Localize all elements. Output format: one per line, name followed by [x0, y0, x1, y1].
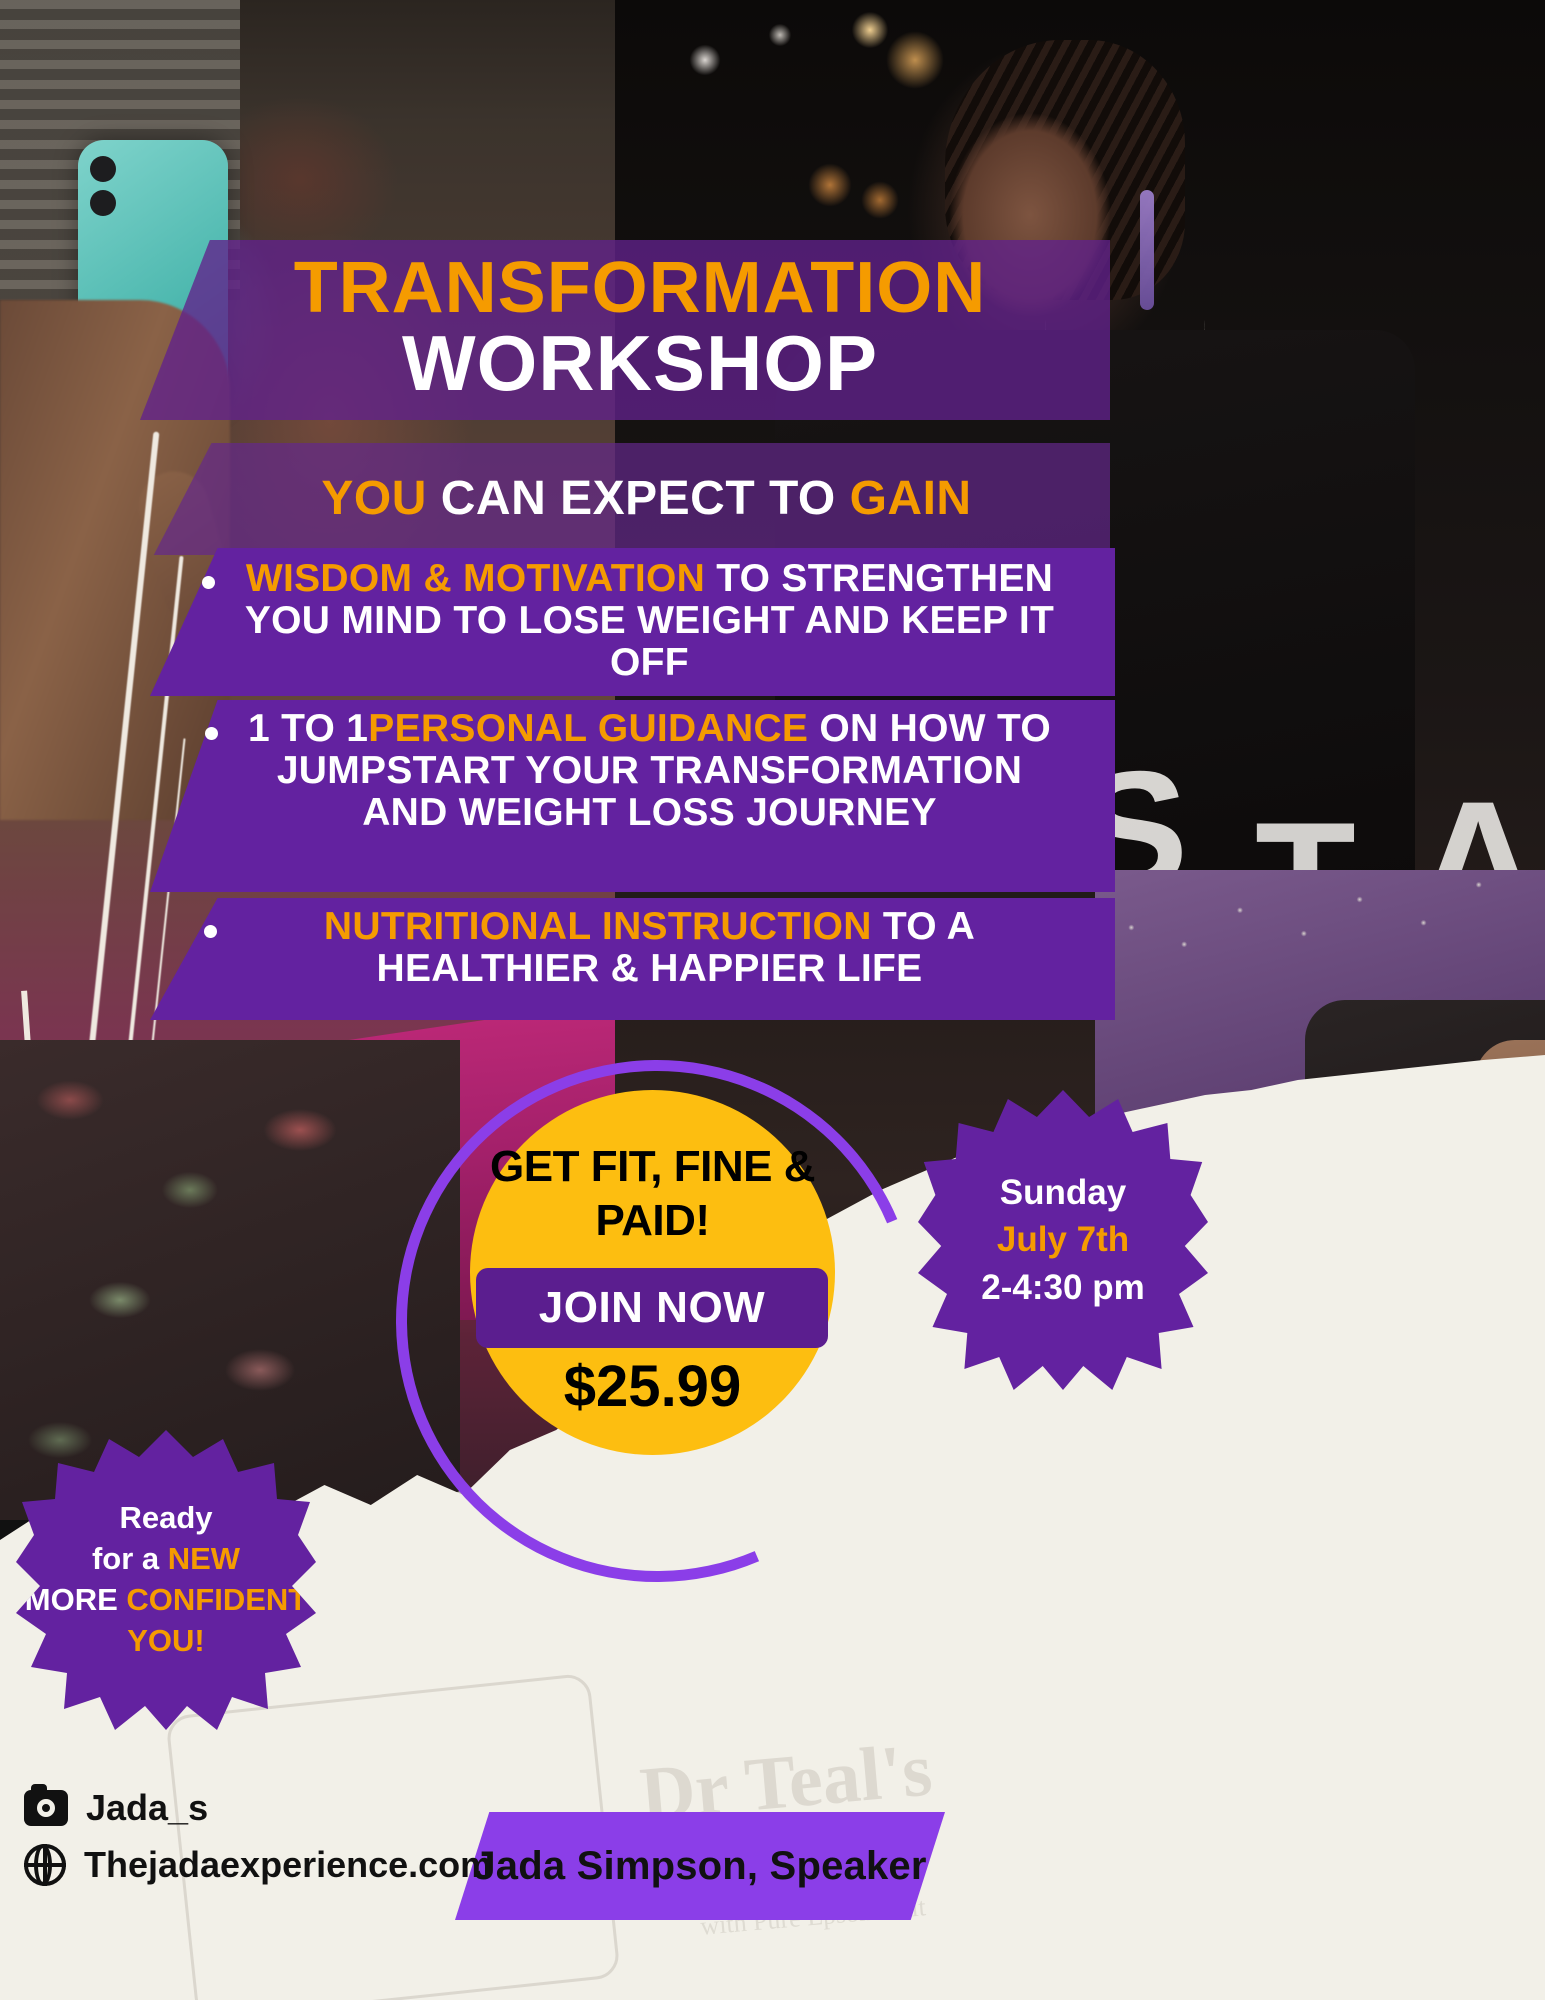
- contact-instagram-row[interactable]: Jada_s: [24, 1790, 544, 1826]
- title-line-2: WORKSHOP: [402, 324, 878, 404]
- join-now-button[interactable]: JOIN NOW: [476, 1268, 828, 1348]
- badge-left-l3b: CONFIDENT: [126, 1582, 307, 1617]
- expect-word-you: YOU: [321, 472, 427, 525]
- website-url: Thejadaexperience.com: [84, 1847, 492, 1883]
- expect-headline: YOU CAN EXPECT TO GAIN: [321, 475, 971, 523]
- bullet-item-1: WISDOM & MOTIVATION TO STRENGTHEN YOU MI…: [150, 548, 1115, 696]
- badge-left-l2b: NEW: [168, 1541, 240, 1576]
- bullet-2-highlight: PERSONAL GUIDANCE: [368, 707, 808, 750]
- badge-left-line-4: YOU!: [127, 1621, 205, 1662]
- contact-block: Jada_s Thejadaexperience.com: [24, 1790, 544, 1904]
- badge-left-line-2: for a NEW: [92, 1539, 240, 1580]
- expect-word-mid: CAN EXPECT TO: [427, 472, 850, 525]
- bullet-2-lead: 1 TO 1: [248, 707, 368, 750]
- event-time: 2-4:30 pm: [981, 1264, 1144, 1312]
- phone-camera-lens: [90, 156, 116, 182]
- bullet-3-highlight: NUTRITIONAL INSTRUCTION: [324, 905, 872, 948]
- title-banner: TRANSFORMATION WORKSHOP: [140, 240, 1110, 420]
- instagram-handle: Jada_s: [86, 1790, 208, 1826]
- bullet-dot-3: [204, 925, 217, 938]
- badge-left-l3a: MORE: [25, 1582, 127, 1617]
- badge-left-line-3: MORE CONFIDENT: [25, 1580, 307, 1621]
- contact-website-row[interactable]: Thejadaexperience.com: [24, 1844, 544, 1886]
- bullet-2-text: 1 TO 1PERSONAL GUIDANCE ON HOW TO JUMPST…: [230, 708, 1069, 834]
- cta-headline: GET FIT, FINE & PAID!: [470, 1140, 835, 1247]
- event-day: Sunday: [1000, 1169, 1126, 1217]
- cta-headline-line-1: GET FIT, FINE &: [470, 1140, 835, 1194]
- cta-headline-line-2: PAID!: [470, 1194, 835, 1248]
- bullet-1-highlight: WISDOM & MOTIVATION: [246, 557, 705, 600]
- expect-banner: YOU CAN EXPECT TO GAIN: [148, 443, 1110, 555]
- badge-left-line-1: Ready: [119, 1498, 212, 1539]
- earring: [1140, 190, 1154, 310]
- badge-left-l2a: for a: [92, 1541, 168, 1576]
- bullet-3-text: NUTRITIONAL INSTRUCTION TO A HEALTHIER &…: [230, 906, 1069, 990]
- event-date: July 7th: [997, 1216, 1129, 1264]
- title-line-1: TRANSFORMATION: [294, 252, 987, 324]
- bullet-dot-1: [202, 576, 215, 589]
- bullet-dot-2: [205, 727, 218, 740]
- globe-meridian: [34, 1844, 52, 1886]
- globe-icon: [24, 1844, 66, 1886]
- camera-icon: [24, 1790, 68, 1826]
- expect-word-gain: GAIN: [850, 472, 972, 525]
- flyer-page: S T A E ♡ Dr Teal's Foaming with Pure Ep…: [0, 0, 1545, 2000]
- price-label: $25.99: [470, 1358, 835, 1416]
- bullet-item-3: NUTRITIONAL INSTRUCTION TO A HEALTHIER &…: [150, 898, 1115, 1020]
- floral-skirt: [0, 1040, 460, 1520]
- bullet-1-text: WISDOM & MOTIVATION TO STRENGTHEN YOU MI…: [230, 558, 1069, 684]
- bullet-item-2: 1 TO 1PERSONAL GUIDANCE ON HOW TO JUMPST…: [150, 700, 1115, 892]
